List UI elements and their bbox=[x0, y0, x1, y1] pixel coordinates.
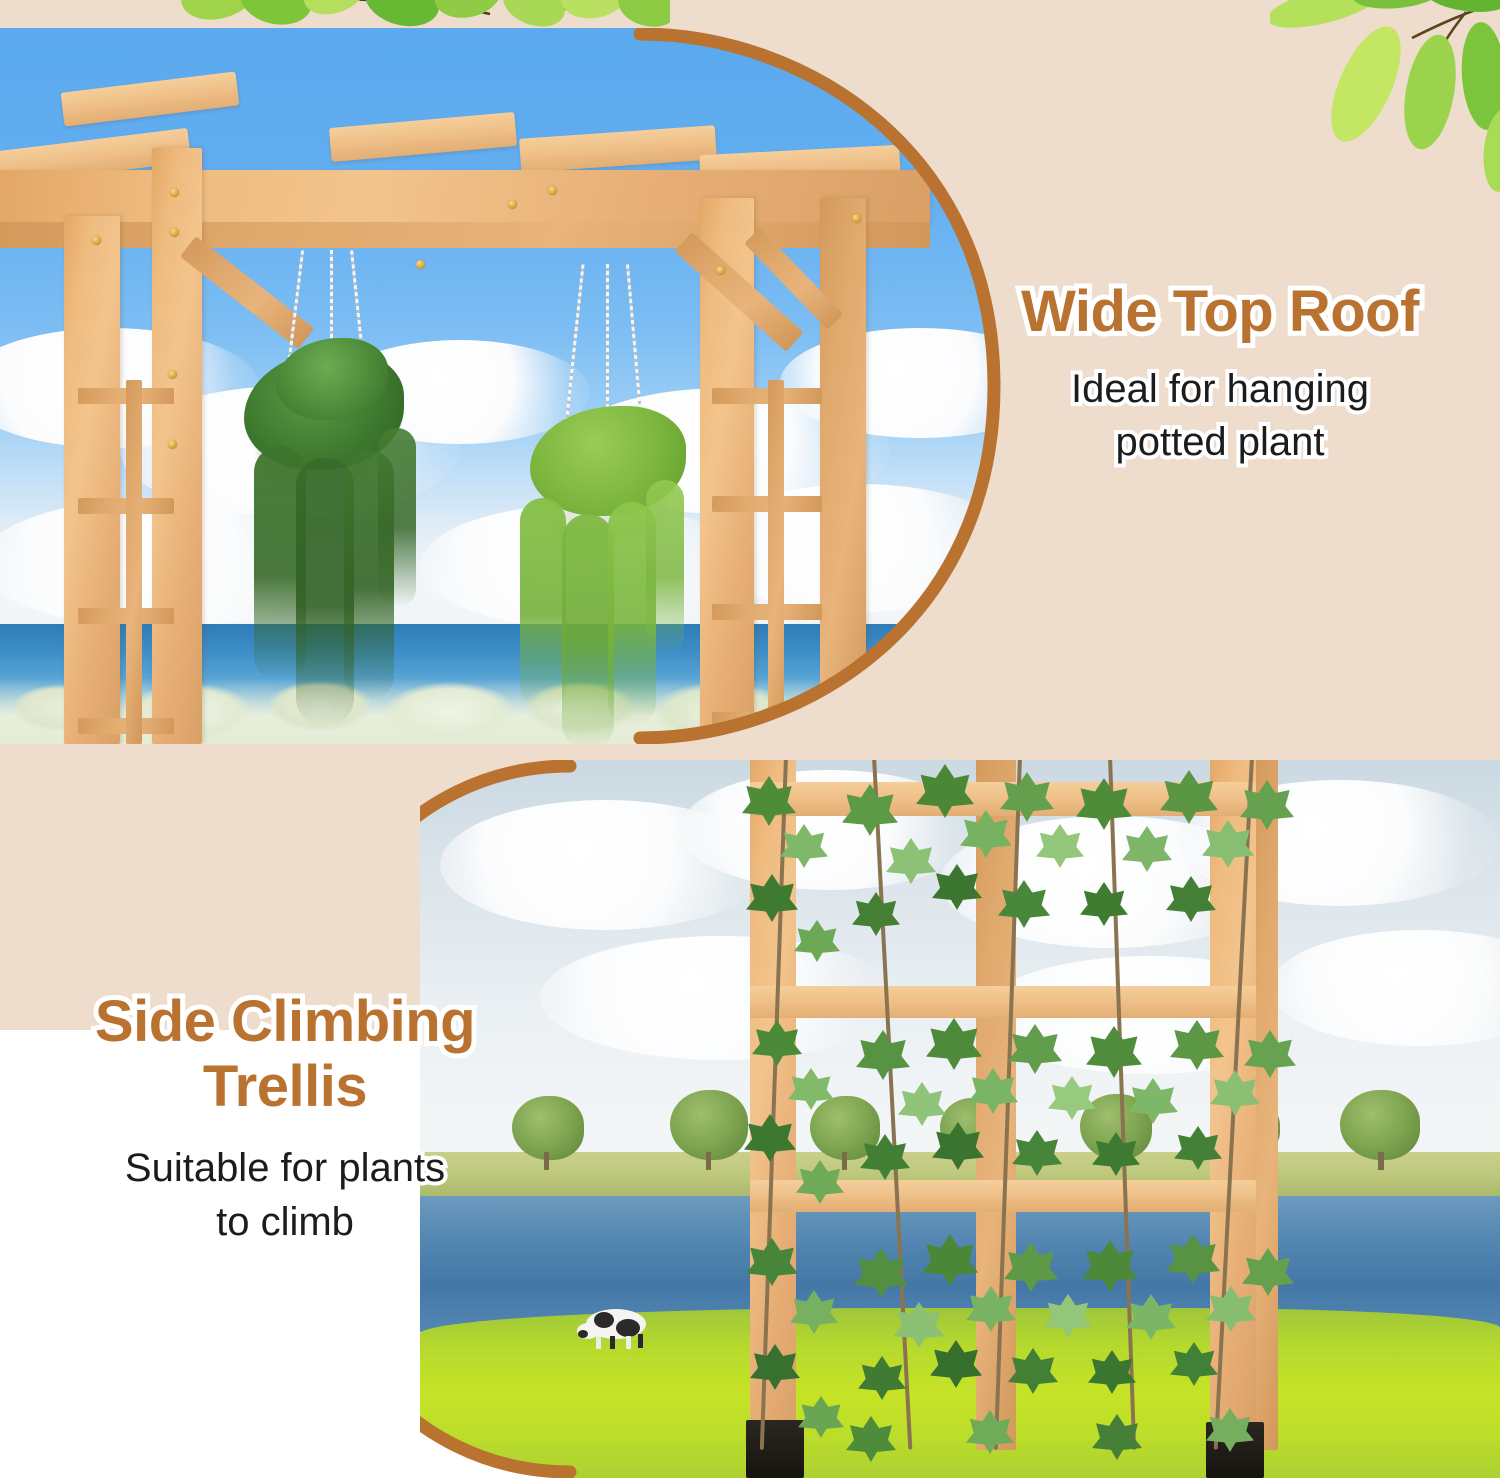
ivy-leaf bbox=[960, 810, 1012, 858]
ivy-leaf bbox=[858, 1356, 906, 1400]
ivy-leaf bbox=[846, 1416, 896, 1462]
trellis-slat bbox=[126, 380, 142, 744]
ivy-leaf bbox=[750, 1344, 800, 1390]
ivy-leaf bbox=[796, 1160, 844, 1204]
ivy-leaf bbox=[1092, 1132, 1140, 1176]
feature-subtitle-line: potted plant bbox=[960, 416, 1480, 469]
feature-panel-side-climbing-trellis: Side Climbing Trellis Suitable for plant… bbox=[0, 752, 1500, 1478]
brass-screw bbox=[170, 228, 179, 237]
feature-panel-wide-top-roof: Wide Top Roof Ideal for hanging potted p… bbox=[0, 0, 1500, 752]
ivy-cluster bbox=[736, 760, 1296, 1014]
ivy-leaf bbox=[1170, 1020, 1224, 1070]
ivy-leaf bbox=[966, 1410, 1014, 1454]
ivy-leaf bbox=[1206, 1408, 1254, 1452]
ivy-leaf bbox=[794, 920, 840, 962]
ivy-leaf bbox=[1206, 1286, 1256, 1332]
ivy-leaf bbox=[932, 1122, 984, 1170]
brass-screw bbox=[508, 200, 517, 209]
ivy-leaf bbox=[1160, 770, 1218, 824]
ivy-leaf bbox=[1170, 1342, 1218, 1386]
ivy-leaf bbox=[1128, 1078, 1178, 1124]
ivy-leaf bbox=[1036, 824, 1084, 868]
trellis-slat bbox=[712, 496, 822, 512]
ivy-leaf bbox=[1240, 780, 1294, 830]
ivy-leaf bbox=[886, 838, 936, 884]
ivy-leaf bbox=[860, 1134, 910, 1180]
cow-icon bbox=[570, 1304, 660, 1352]
ivy-leaf bbox=[788, 1068, 834, 1110]
ivy-leaf bbox=[1166, 876, 1216, 922]
pergola-post-left bbox=[64, 216, 120, 744]
ivy-leaf bbox=[780, 824, 828, 868]
ivy-leaf bbox=[1174, 1126, 1222, 1170]
ivy-leaf bbox=[1008, 1024, 1062, 1074]
ivy-leaf bbox=[916, 764, 974, 818]
trailing-vine bbox=[520, 498, 566, 710]
ivy-leaf bbox=[1048, 1076, 1096, 1120]
trellis-photo bbox=[420, 760, 1500, 1478]
feature-text-block: Side Climbing Trellis Suitable for plant… bbox=[20, 990, 550, 1249]
feature-text-block: Wide Top Roof Ideal for hanging potted p… bbox=[960, 282, 1480, 468]
pergola-beam-underside bbox=[0, 222, 930, 248]
ivy-leaf bbox=[1088, 1350, 1136, 1394]
brass-screw bbox=[92, 236, 101, 245]
feature-subtitle-line: Ideal for hanging bbox=[960, 363, 1480, 416]
pergola-main-beam bbox=[0, 170, 930, 222]
ivy-leaf bbox=[852, 892, 900, 936]
ivy-leaf bbox=[1004, 1242, 1058, 1292]
feature-title-line: Trellis bbox=[20, 1055, 550, 1120]
brass-screw bbox=[852, 214, 861, 223]
ivy-leaf bbox=[742, 776, 796, 826]
feature-subtitle: Suitable for plants to climb bbox=[20, 1142, 550, 1249]
feature-subtitle: Ideal for hanging potted plant bbox=[960, 363, 1480, 469]
leaf-decoration-icon bbox=[150, 0, 670, 50]
ivy-leaf bbox=[746, 874, 798, 922]
pergola-post-right-back bbox=[820, 198, 866, 744]
ivy-leaf bbox=[1008, 1348, 1058, 1394]
tree-trunk bbox=[1378, 1152, 1384, 1170]
ivy-leaf bbox=[1166, 1234, 1220, 1284]
feature-subtitle-line: to climb bbox=[20, 1196, 550, 1250]
ivy-leaf bbox=[856, 1030, 910, 1080]
ivy-leaf bbox=[1244, 1030, 1296, 1078]
ivy-leaf bbox=[930, 1340, 982, 1388]
ivy-leaf bbox=[1202, 820, 1254, 868]
ivy-leaf bbox=[752, 1020, 802, 1066]
ivy-leaf bbox=[898, 1082, 946, 1126]
ivy-leaf bbox=[1080, 882, 1128, 926]
ivy-leaf bbox=[1242, 1248, 1294, 1296]
brass-screw bbox=[416, 260, 425, 269]
ivy-leaf bbox=[1044, 1294, 1092, 1338]
ivy-leaf bbox=[1092, 1414, 1142, 1460]
ivy-leaf bbox=[1000, 772, 1054, 822]
ivy-leaf bbox=[1086, 1026, 1142, 1078]
trellis-slat bbox=[712, 388, 822, 404]
ivy-leaf bbox=[744, 1114, 796, 1162]
ivy-leaf bbox=[790, 1290, 838, 1334]
ivy-leaf bbox=[842, 784, 898, 836]
ivy-leaf bbox=[932, 864, 982, 910]
trailing-vine bbox=[562, 514, 614, 744]
ivy-leaf bbox=[968, 1068, 1018, 1114]
feature-title-line: Side Climbing bbox=[20, 990, 550, 1055]
trailing-vine bbox=[378, 428, 416, 608]
trailing-vine bbox=[646, 480, 684, 656]
brass-screw bbox=[168, 440, 177, 449]
ivy-leaf bbox=[1126, 1294, 1176, 1340]
ivy-cluster bbox=[736, 1220, 1296, 1470]
ivy-leaf bbox=[966, 1286, 1016, 1332]
feature-title: Wide Top Roof bbox=[960, 282, 1480, 343]
brass-screw bbox=[170, 188, 179, 197]
feature-subtitle-line: Suitable for plants bbox=[20, 1142, 550, 1196]
tree-trunk bbox=[706, 1152, 711, 1170]
pergola-photo bbox=[0, 28, 1010, 744]
tree-icon bbox=[1340, 1090, 1420, 1160]
ivy-leaf bbox=[1122, 826, 1172, 872]
brass-screw bbox=[168, 370, 177, 379]
ivy-cluster bbox=[736, 1010, 1296, 1240]
ivy-leaf bbox=[746, 1238, 798, 1286]
ivy-leaf bbox=[1076, 778, 1132, 830]
ivy-leaf bbox=[922, 1234, 978, 1286]
ivy-leaf bbox=[1082, 1240, 1138, 1292]
leaf-decoration-icon bbox=[1270, 0, 1500, 210]
ivy-leaf bbox=[854, 1248, 908, 1298]
ivy-leaf bbox=[1012, 1130, 1062, 1176]
trellis-slat bbox=[768, 380, 784, 744]
ivy-leaf bbox=[894, 1302, 944, 1348]
ivy-leaf bbox=[926, 1018, 982, 1070]
ivy-leaf bbox=[998, 880, 1050, 928]
trellis-slat bbox=[712, 604, 822, 620]
ivy-leaf bbox=[1210, 1070, 1260, 1116]
brass-screw bbox=[548, 186, 557, 195]
ivy-leaf bbox=[798, 1396, 844, 1438]
brass-screw bbox=[716, 266, 725, 275]
feature-title: Side Climbing Trellis bbox=[20, 990, 550, 1120]
